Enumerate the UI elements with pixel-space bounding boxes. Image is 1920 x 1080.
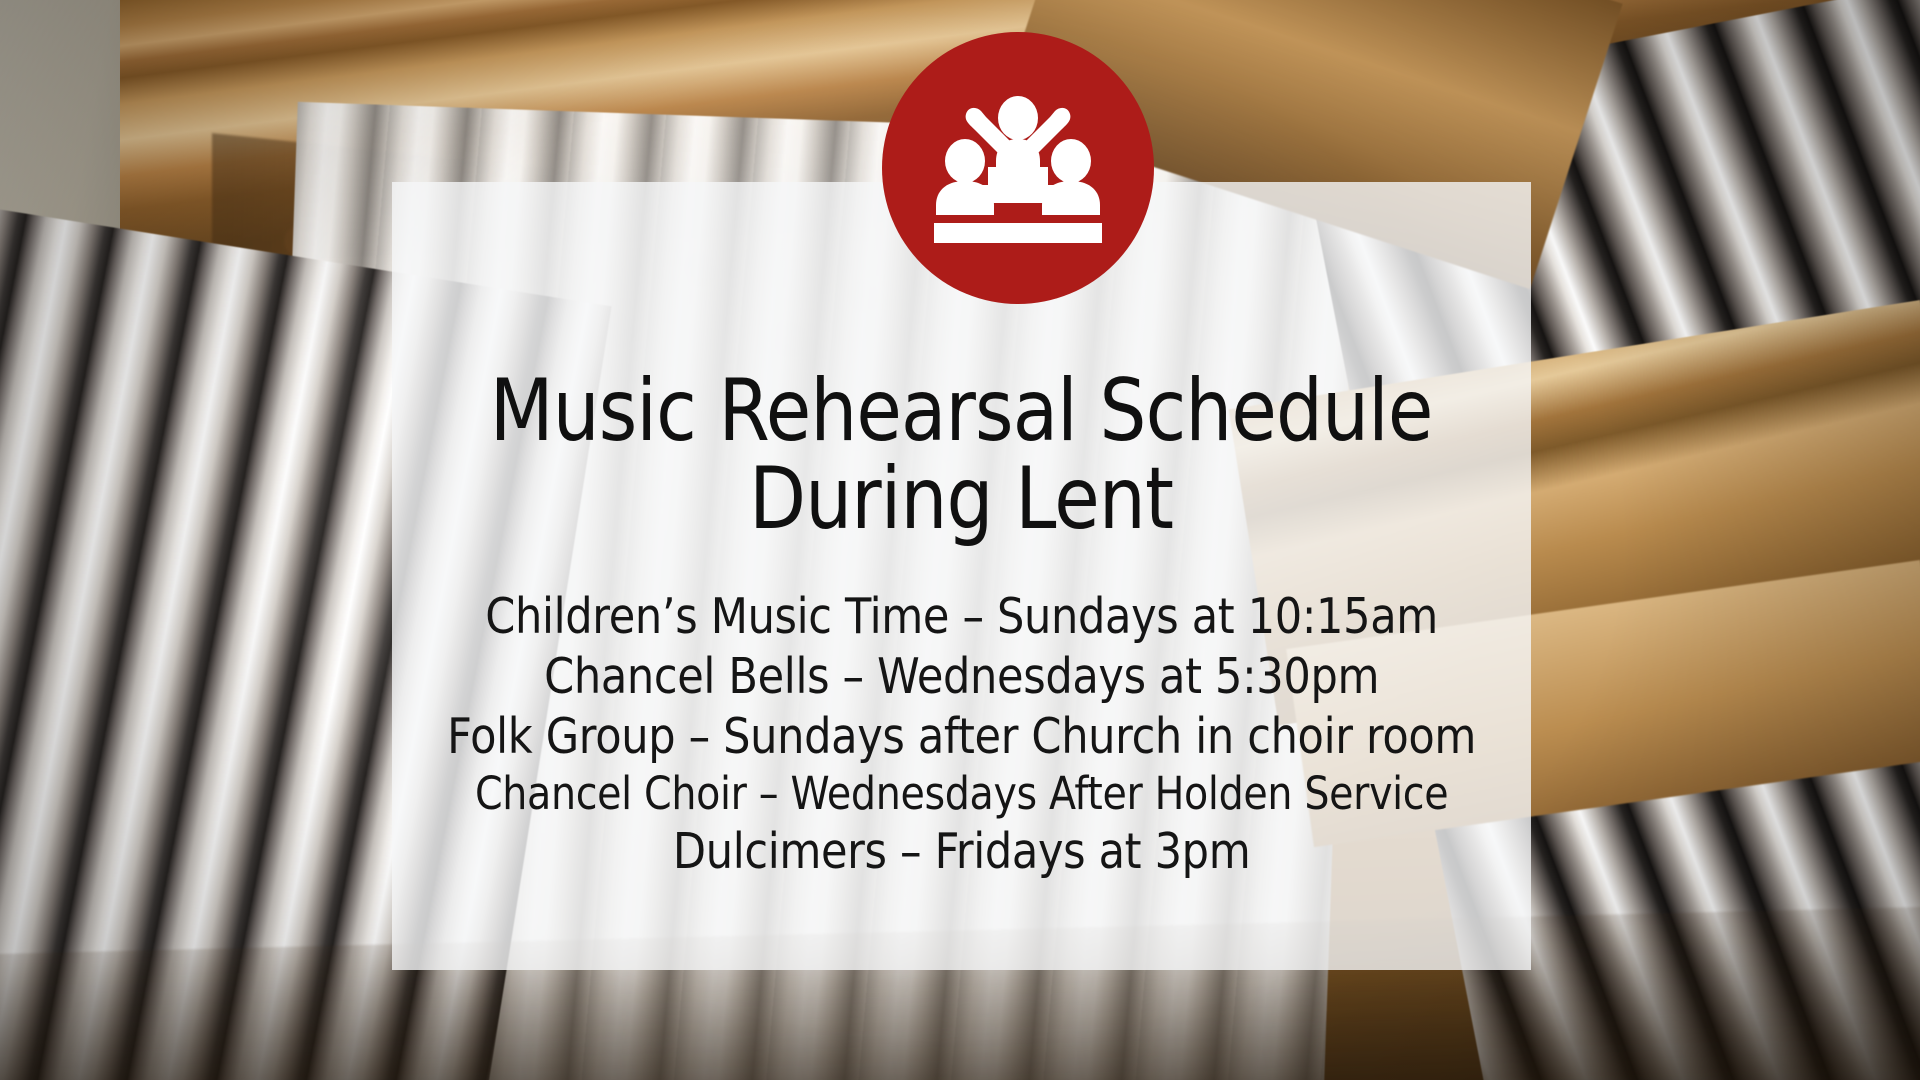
schedule-item-childrens-music-time: Children’s Music Time – Sundays at 10:15… [447,587,1476,647]
choir-badge [882,32,1154,304]
schedule-item-folk-group: Folk Group – Sundays after Church in cho… [447,707,1476,767]
content-panel: Music Rehearsal Schedule During Lent Chi… [392,182,1531,970]
choir-conductor-icon [934,93,1102,243]
title-line-1: Music Rehearsal Schedule [490,368,1433,456]
announcement-graphic: Music Rehearsal Schedule During Lent Chi… [0,0,1920,1080]
schedule-item-dulcimers: Dulcimers – Fridays at 3pm [447,822,1476,882]
schedule-item-chancel-choir: Chancel Choir – Wednesdays After Holden … [447,767,1476,822]
page-title: Music Rehearsal Schedule During Lent [373,368,1549,543]
schedule-list: Children’s Music Time – Sundays at 10:15… [353,587,1570,881]
title-heading: Music Rehearsal Schedule During Lent [456,368,1468,543]
title-line-2: During Lent [490,456,1433,544]
schedule-item-chancel-bells: Chancel Bells – Wednesdays at 5:30pm [447,647,1476,707]
